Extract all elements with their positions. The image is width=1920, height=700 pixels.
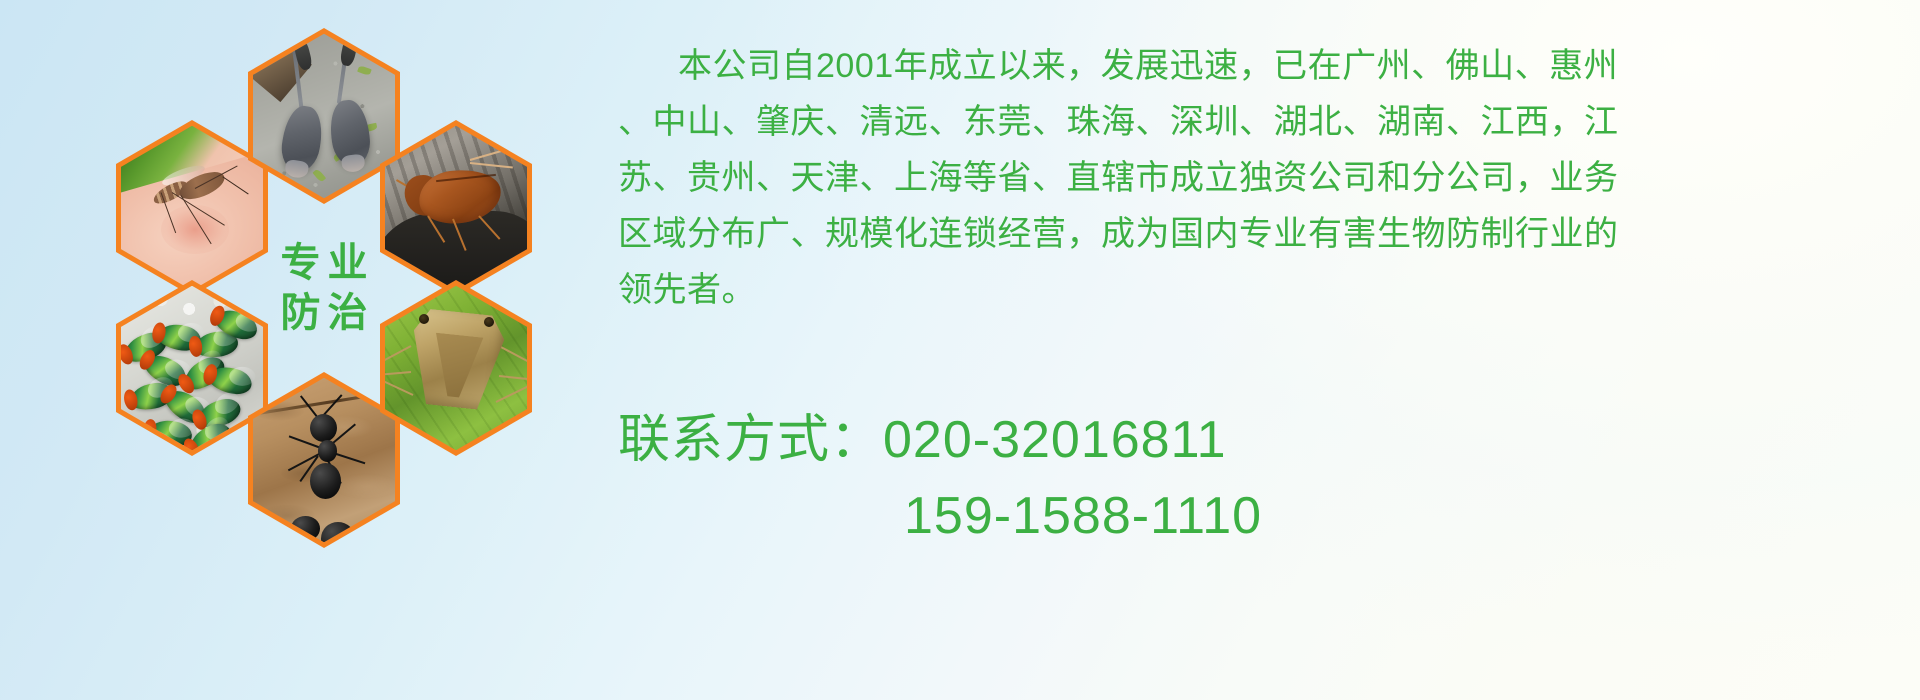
contact-phone-secondary[interactable]: 159-1588-1110 bbox=[618, 478, 1906, 554]
black-ant-photo bbox=[253, 378, 395, 542]
intro-line-3: 苏、贵州、天津、上海等省、直辖市成立独资公司和分公司，业务 bbox=[618, 150, 1906, 206]
intro-line-1: 本公司自2001年成立以来，发展迅速，已在广州、佛山、惠州 bbox=[618, 38, 1906, 94]
intro-line-2: 、中山、肇庆、清远、东莞、珠海、深圳、湖北、湖南、江西，江 bbox=[618, 94, 1906, 150]
cockroach-photo bbox=[385, 126, 527, 290]
mosquito-on-skin-photo bbox=[121, 126, 263, 290]
slogan-professional-control: 专业 防治 bbox=[253, 206, 395, 370]
contact-information: 联系方式：020-32016811 159-1588-1110 bbox=[618, 402, 1906, 554]
intro-line-4: 区域分布广、规模化连锁经营，成为国内专业有害生物防制行业的 bbox=[618, 206, 1906, 262]
banner-text-content: 本公司自2001年成立以来，发展迅速，已在广州、佛山、惠州 、中山、肇庆、清远、… bbox=[600, 0, 1920, 700]
slogan-line-2: 防治 bbox=[274, 292, 375, 334]
stink-bug-on-leaf-photo bbox=[385, 286, 527, 450]
hex-cell-rodents[interactable] bbox=[248, 28, 400, 204]
slogan-line-1: 专业 bbox=[274, 242, 375, 284]
green-bottle-flies-photo bbox=[121, 286, 263, 450]
company-intro-paragraph: 本公司自2001年成立以来，发展迅速，已在广州、佛山、惠州 、中山、肇庆、清远、… bbox=[618, 38, 1906, 318]
hex-cell-cockroach[interactable] bbox=[380, 120, 532, 296]
hex-cell-center-slogan: 专业 防治 bbox=[248, 200, 400, 376]
hex-cell-flies[interactable] bbox=[116, 280, 268, 456]
pest-control-banner: 专业 防治 本公司自2001年成立以来，发展迅速，已在广州、佛山、惠州 、中山、… bbox=[0, 0, 1920, 700]
intro-line-5: 领先者。 bbox=[618, 262, 1906, 318]
hex-cell-mosquito[interactable] bbox=[116, 120, 268, 296]
hex-cell-stink-bug[interactable] bbox=[380, 280, 532, 456]
hex-cell-ant[interactable] bbox=[248, 372, 400, 548]
dead-rats-photo bbox=[253, 34, 395, 198]
contact-phone-primary[interactable]: 联系方式：020-32016811 bbox=[618, 402, 1906, 478]
honeycomb-image-collage: 专业 防治 bbox=[108, 8, 578, 568]
